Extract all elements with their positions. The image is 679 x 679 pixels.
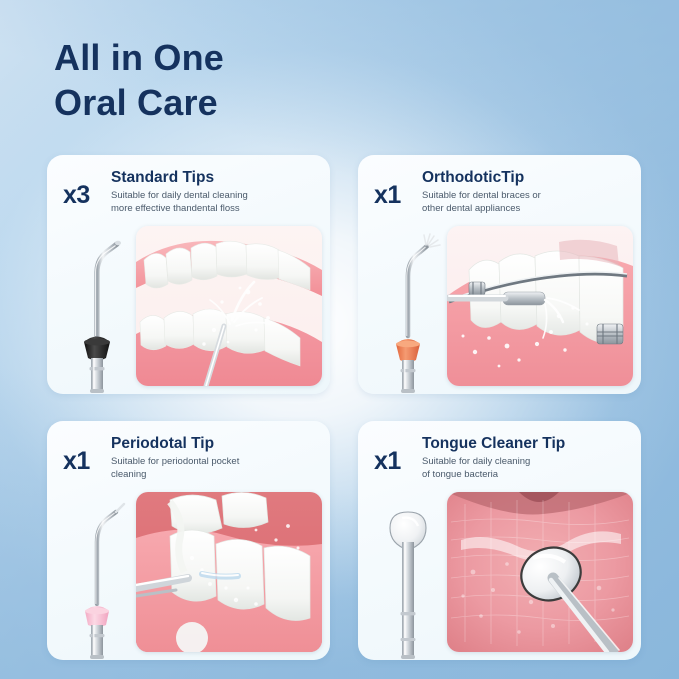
card-header: x3 Standard Tips Suitable for daily dent… [47,169,330,215]
headline-line-2: Oral Care [54,81,224,126]
tongue-cleaning-photo [447,492,633,652]
quantity-badge: x3 [63,169,109,208]
quantity-badge: x1 [63,435,109,474]
tip-description: Suitable for daily cleaning of tongue ba… [422,456,631,482]
tip-description: Suitable for daily dental cleaning more … [111,190,320,216]
braces-water-flossing-photo [447,226,633,386]
page-title: All in One Oral Care [54,36,224,125]
tip-title: Periodotal Tip [111,435,320,453]
card-header: x1 OrthodoticTip Suitable for dental bra… [358,169,641,215]
card-header: x1 Tongue Cleaner Tip Suitable for daily… [358,435,641,481]
quantity-badge: x1 [374,435,420,474]
tip-description: Suitable for periodontal pocket cleaning [111,456,320,482]
tip-card-tongue-cleaner[interactable]: x1 Tongue Cleaner Tip Suitable for daily… [358,421,641,660]
tip-card-standard[interactable]: x3 Standard Tips Suitable for daily dent… [47,155,330,394]
tip-title: Tongue Cleaner Tip [422,435,631,453]
headline-line-1: All in One [54,36,224,81]
quantity-badge: x1 [374,169,420,208]
tip-title: OrthodoticTip [422,169,631,187]
tip-card-periodontal[interactable]: x1 Periodotal Tip Suitable for periodont… [47,421,330,660]
teeth-water-flossing-photo [136,226,322,386]
tip-card-grid: x3 Standard Tips Suitable for daily dent… [47,155,641,660]
tip-title: Standard Tips [111,169,320,187]
tip-description: Suitable for dental braces or other dent… [422,190,631,216]
product-infographic: All in One Oral Care x3 Standard Tips Su… [0,0,679,679]
tip-card-orthodontic[interactable]: x1 OrthodoticTip Suitable for dental bra… [358,155,641,394]
card-header: x1 Periodotal Tip Suitable for periodont… [47,435,330,481]
periodontal-pocket-cleaning-photo [136,492,322,652]
